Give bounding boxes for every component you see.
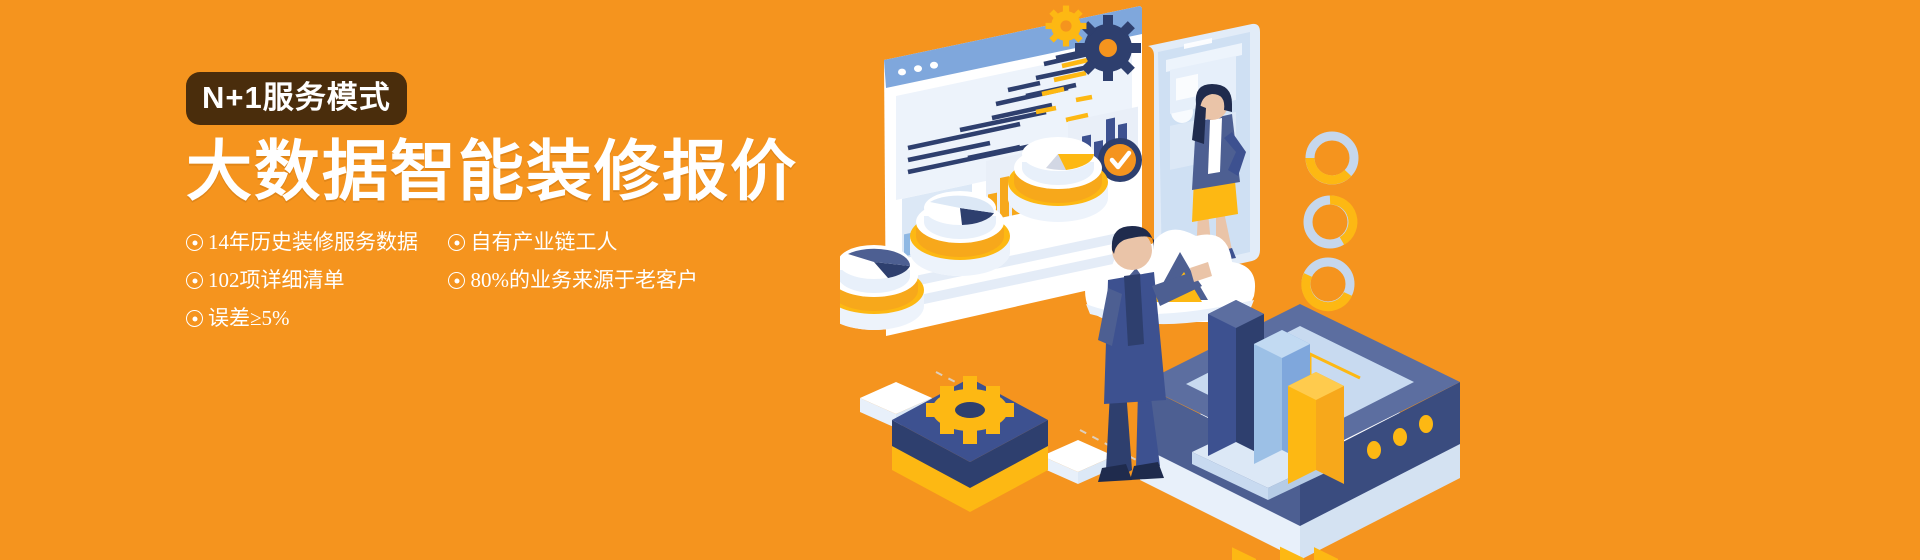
circled-dot-icon — [186, 234, 203, 251]
bullet-spacer — [448, 308, 788, 346]
service-model-badge: N+1服务模式 — [186, 72, 407, 125]
bullet-label: 自有产业链工人 — [470, 232, 617, 253]
circled-dot-icon — [186, 310, 203, 327]
list-item: 自有产业链工人 — [448, 232, 788, 270]
list-item: 102项详细清单 — [186, 270, 444, 308]
bar-yellow — [1288, 372, 1344, 484]
promo-banner: N+1服务模式 大数据智能装修报价 14年历史装修服务数据 102项详细清单 误… — [0, 0, 1920, 560]
list-item: 14年历史装修服务数据 — [186, 232, 444, 270]
isometric-big-data-illustration — [840, 0, 1920, 560]
banner-headline: 大数据智能装修报价 — [186, 137, 846, 206]
bullet-label: 误差≥5% — [208, 308, 290, 329]
circled-dot-icon — [448, 272, 465, 289]
bullet-label: 14年历史装修服务数据 — [208, 232, 418, 253]
list-item: 误差≥5% — [186, 308, 444, 346]
progress-ring-icons — [1306, 136, 1354, 307]
circled-dot-icon — [448, 234, 465, 251]
banner-text-block: N+1服务模式 大数据智能装修报价 14年历史装修服务数据 102项详细清单 误… — [186, 72, 846, 342]
gear-icon-small — [1046, 6, 1087, 47]
circled-dot-icon — [186, 272, 203, 289]
list-item: 80%的业务来源于老客户 — [448, 270, 788, 308]
bullet-column-right: 自有产业链工人 80%的业务来源于老客户 — [448, 232, 788, 346]
bullet-column-left: 14年历史装修服务数据 102项详细清单 误差≥5% — [186, 232, 444, 346]
bullet-label: 80%的业务来源于老客户 — [470, 270, 698, 291]
bullet-label: 102项详细清单 — [208, 270, 345, 291]
feature-bullet-list: 14年历史装修服务数据 102项详细清单 误差≥5% 自有产业链工人 — [186, 232, 806, 346]
